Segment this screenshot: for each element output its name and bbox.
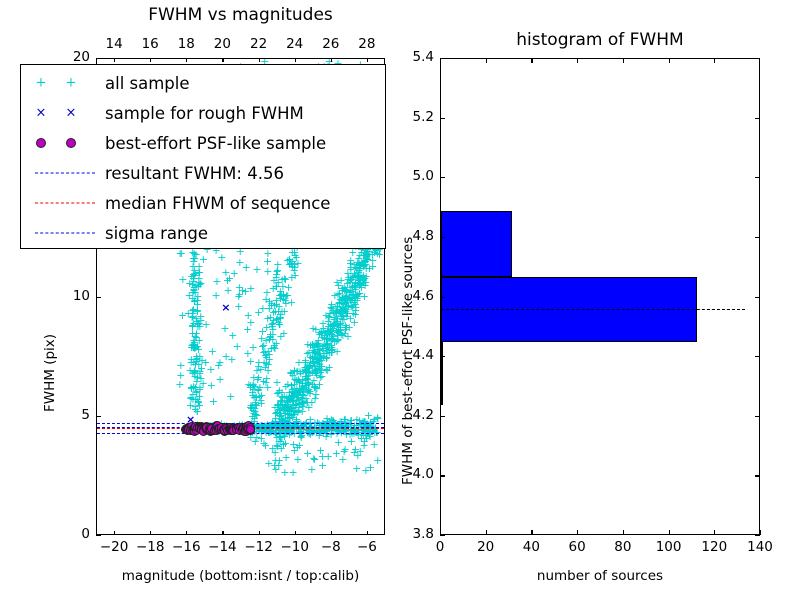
left-xtick-top (186, 58, 187, 62)
legend-label: best-effort PSF-like sample (105, 134, 326, 153)
scatter-point-all-sample: + (201, 357, 210, 368)
right-panel-xlabel: number of sources (440, 568, 760, 584)
scatter-point-all-sample: + (215, 357, 224, 368)
right-xticklabel: 100 (647, 539, 691, 555)
right-ytick-right (755, 177, 760, 178)
scatter-point-all-sample: + (351, 444, 360, 455)
right-xtick (623, 530, 624, 535)
scatter-point-all-sample: + (196, 311, 205, 322)
legend-handle: × × (27, 100, 105, 126)
scatter-point-all-sample: + (259, 438, 268, 449)
right-xtick-top (623, 58, 624, 63)
scatter-point-all-sample: + (225, 273, 234, 284)
scatter-point-all-sample: + (304, 370, 313, 381)
scatter-point-all-sample: + (317, 365, 326, 376)
scatter-point-all-sample: + (351, 302, 360, 313)
left-xticklabel-top: 14 (94, 36, 134, 52)
right-ytick (440, 177, 445, 178)
right-yticklabel: 4.2 (392, 407, 434, 423)
legend-label: resultant FWHM: 4.56 (105, 164, 284, 183)
histogram-median-line (441, 309, 745, 310)
plot-legend: + + all sample × × sample for rough FWHM… (20, 64, 386, 249)
scatter-point-psf-like (246, 425, 255, 434)
left-xtick-top (114, 58, 115, 62)
scatter-point-all-sample: + (194, 397, 203, 408)
scatter-point-all-sample: + (244, 379, 253, 390)
scatter-point-all-sample: + (178, 310, 187, 321)
scatter-point-all-sample: + (243, 324, 252, 335)
left-xtick-bottom (259, 531, 260, 535)
scatter-point-all-sample: + (249, 342, 258, 353)
left-xtick-bottom (114, 531, 115, 535)
right-xticklabel: 60 (555, 539, 599, 555)
right-xtick (577, 530, 578, 535)
right-ytick-right (755, 475, 760, 476)
histogram-bar (441, 342, 443, 405)
legend-dot-icon (66, 138, 76, 148)
right-yticklabel: 3.8 (392, 526, 434, 542)
legend-dashdot-line-icon (35, 233, 95, 234)
left-xtick-top (259, 58, 260, 62)
left-yticklabel: 5 (56, 407, 90, 423)
scatter-point-all-sample: + (212, 290, 221, 301)
left-xticklabel-bottom: −12 (239, 539, 279, 555)
left-xticklabel-bottom: −10 (275, 539, 315, 555)
left-yticklabel: 20 (56, 49, 90, 65)
right-xtick (714, 530, 715, 535)
scatter-point-all-sample: + (342, 286, 351, 297)
legend-marker-icon: × (36, 107, 47, 120)
left-xtick-top (367, 58, 368, 62)
scatter-point-all-sample: + (176, 370, 185, 381)
right-yticklabel: 4.0 (392, 466, 434, 482)
scatter-point-all-sample: + (244, 310, 253, 321)
legend-handle (27, 190, 105, 216)
scatter-point-all-sample: + (254, 372, 263, 383)
left-ytick (96, 535, 101, 536)
left-xtick-top (295, 58, 296, 62)
left-xticklabel-top: 18 (166, 36, 206, 52)
scatter-point-all-sample: + (188, 321, 197, 332)
scatter-point-all-sample: + (364, 410, 373, 421)
scatter-point-all-sample: + (265, 303, 274, 314)
right-ytick-right (755, 297, 760, 298)
right-xtick (486, 530, 487, 535)
scatter-point-all-sample: + (189, 342, 198, 353)
right-xtick-top (669, 58, 670, 63)
scatter-point-all-sample: + (263, 248, 272, 259)
right-ytick (440, 475, 445, 476)
scatter-point-all-sample: + (307, 464, 316, 475)
legend-entry: + + all sample (27, 68, 379, 98)
left-xtick-bottom (186, 531, 187, 535)
right-panel-title: histogram of FWHM (440, 30, 760, 50)
scatter-point-all-sample: + (234, 301, 243, 312)
legend-marker-icon: × (66, 107, 77, 120)
scatter-point-all-sample: + (273, 259, 282, 270)
right-xtick-top (486, 58, 487, 63)
scatter-point-all-sample: + (227, 354, 236, 365)
left-panel-title: FWHM vs magnitudes (96, 5, 385, 25)
right-xticklabel: 80 (601, 539, 645, 555)
scatter-point-all-sample: + (289, 467, 298, 478)
scatter-point-all-sample: + (341, 444, 350, 455)
scatter-point-all-sample: + (235, 289, 244, 300)
scatter-point-all-sample: + (363, 254, 372, 265)
legend-label: sigma range (105, 224, 208, 243)
legend-marker-icon: + (36, 77, 47, 90)
scatter-point-all-sample: + (318, 460, 327, 471)
right-ytick (440, 58, 445, 59)
scatter-point-all-sample: + (287, 272, 296, 283)
scatter-point-all-sample: + (319, 323, 328, 334)
legend-label: sample for rough FWHM (105, 104, 304, 123)
left-xtick-bottom (150, 531, 151, 535)
scatter-point-all-sample: + (347, 274, 356, 285)
scatter-point-all-sample: + (270, 460, 279, 471)
left-xticklabel-bottom: −18 (130, 539, 170, 555)
left-panel-ylabel: FWHM (pix) (42, 334, 58, 412)
left-ytick (96, 297, 101, 298)
scatter-point-all-sample: + (217, 252, 226, 263)
scatter-point-all-sample: + (226, 391, 235, 402)
legend-entry: best-effort PSF-like sample (27, 128, 379, 158)
legend-handle (27, 130, 105, 156)
right-ytick-right (755, 535, 760, 536)
histogram-bar (441, 211, 512, 277)
left-ytick (96, 416, 101, 417)
scatter-point-all-sample: + (176, 248, 185, 259)
left-xtick-bottom (331, 531, 332, 535)
scatter-point-all-sample: + (216, 374, 225, 385)
left-xtick-bottom (295, 531, 296, 535)
left-xticklabel-bottom: −14 (202, 539, 242, 555)
right-ytick-right (755, 416, 760, 417)
scatter-point-all-sample: + (269, 275, 278, 286)
left-yticklabel: 10 (56, 288, 90, 304)
legend-handle (27, 160, 105, 186)
left-panel-xlabel: magnitude (bottom:isnt / top:calib) (96, 568, 385, 584)
scatter-point-all-sample: + (334, 334, 343, 345)
scatter-point-all-sample: + (233, 341, 242, 352)
scatter-point-all-sample: + (224, 285, 233, 296)
scatter-point-all-sample: + (188, 308, 197, 319)
scatter-point-all-sample: + (212, 276, 221, 287)
legend-dot-icon (36, 138, 46, 148)
scatter-point-all-sample: + (242, 262, 251, 273)
legend-entry: resultant FWHM: 4.56 (27, 158, 379, 188)
legend-entry: sigma range (27, 218, 379, 248)
right-yticklabel: 4.8 (392, 228, 434, 244)
right-ytick (440, 237, 445, 238)
right-xticklabel: 20 (464, 539, 508, 555)
right-ytick (440, 416, 445, 417)
left-xticklabel-top: 28 (347, 36, 387, 52)
right-xtick-top (714, 58, 715, 63)
scatter-point-all-sample: + (246, 356, 255, 367)
left-xtick-bottom (367, 531, 368, 535)
legend-marker-icon: + (66, 77, 77, 90)
right-yticklabel: 5.2 (392, 109, 434, 125)
right-xtick (760, 530, 761, 535)
scatter-point-all-sample: + (352, 463, 361, 474)
scatter-point-all-sample: + (272, 377, 281, 388)
legend-entry: × × sample for rough FWHM (27, 98, 379, 128)
scatter-point-all-sample: + (272, 440, 281, 451)
scatter-point-all-sample: + (209, 396, 218, 407)
legend-dashed-line-icon (35, 173, 95, 174)
left-xticklabel-top: 16 (130, 36, 170, 52)
right-xticklabel: 140 (738, 539, 782, 555)
left-xtick-top (150, 58, 151, 62)
scatter-point-all-sample: + (178, 274, 187, 285)
legend-dashed-line-icon (35, 203, 95, 204)
scatter-point-all-sample: + (279, 290, 288, 301)
right-xticklabel: 120 (692, 539, 736, 555)
scatter-point-all-sample: + (291, 250, 300, 261)
scatter-point-all-sample: + (257, 398, 266, 409)
scatter-point-all-sample: + (293, 442, 302, 453)
scatter-point-all-sample: + (262, 287, 271, 298)
right-ytick (440, 118, 445, 119)
left-xtick-bottom (222, 531, 223, 535)
scatter-point-all-sample: + (339, 314, 348, 325)
right-xtick (531, 530, 532, 535)
scatter-point-all-sample: + (300, 397, 309, 408)
scatter-point-all-sample: + (285, 417, 294, 428)
right-ytick-right (755, 58, 760, 59)
right-ytick (440, 535, 445, 536)
scatter-point-all-sample: + (208, 346, 217, 357)
scatter-point-all-sample: + (316, 445, 325, 456)
scatter-point-all-sample: + (252, 264, 261, 275)
histogram-plot-area (441, 59, 759, 534)
scatter-point-all-sample: + (373, 455, 382, 466)
scatter-point-rough-fwhm: × (221, 302, 230, 313)
right-ytick-right (755, 237, 760, 238)
legend-handle (27, 220, 105, 246)
left-xtick-top (331, 58, 332, 62)
figure-canvas: ++++++++++++++++++++++++++++++++++++++++… (0, 0, 800, 600)
scatter-point-all-sample: + (315, 344, 324, 355)
legend-entry: median FHWM of sequence (27, 188, 379, 218)
right-ytick (440, 356, 445, 357)
scatter-point-all-sample: + (264, 359, 273, 370)
left-xticklabel-top: 22 (239, 36, 279, 52)
scatter-point-all-sample: + (191, 268, 200, 279)
right-yticklabel: 4.4 (392, 347, 434, 363)
legend-handle: + + (27, 70, 105, 96)
right-xtick-top (531, 58, 532, 63)
left-xtick-top (222, 58, 223, 62)
scatter-point-all-sample: + (190, 296, 199, 307)
left-xticklabel-bottom: −20 (94, 539, 134, 555)
left-yticklabel: 0 (56, 526, 90, 542)
right-ytick-right (755, 356, 760, 357)
right-yticklabel: 5.0 (392, 168, 434, 184)
right-yticklabel: 5.4 (392, 49, 434, 65)
scatter-point-all-sample: + (285, 403, 294, 414)
left-xticklabel-top: 26 (311, 36, 351, 52)
right-ytick (440, 297, 445, 298)
right-xtick (669, 530, 670, 535)
right-ytick-right (755, 118, 760, 119)
left-xticklabel-bottom: −8 (311, 539, 351, 555)
scatter-point-all-sample: + (273, 313, 282, 324)
legend-label: median FHWM of sequence (105, 194, 330, 213)
scatter-point-all-sample: + (195, 384, 204, 395)
left-ytick (96, 58, 101, 59)
scatter-point-all-sample: + (370, 439, 379, 450)
right-yticklabel: 4.6 (392, 288, 434, 304)
legend-label: all sample (105, 74, 190, 93)
right-axes-histogram-of-fwhm (440, 58, 760, 535)
scatter-point-all-sample: + (254, 307, 263, 318)
left-xticklabel-top: 20 (202, 36, 242, 52)
left-xticklabel-bottom: −16 (166, 539, 206, 555)
left-xticklabel-bottom: −6 (347, 539, 387, 555)
scatter-point-all-sample: + (189, 357, 198, 368)
scatter-point-all-sample: + (262, 335, 271, 346)
left-xticklabel-top: 24 (275, 36, 315, 52)
right-xtick-top (577, 58, 578, 63)
scatter-point-all-sample: + (220, 323, 229, 334)
right-xticklabel: 40 (509, 539, 553, 555)
